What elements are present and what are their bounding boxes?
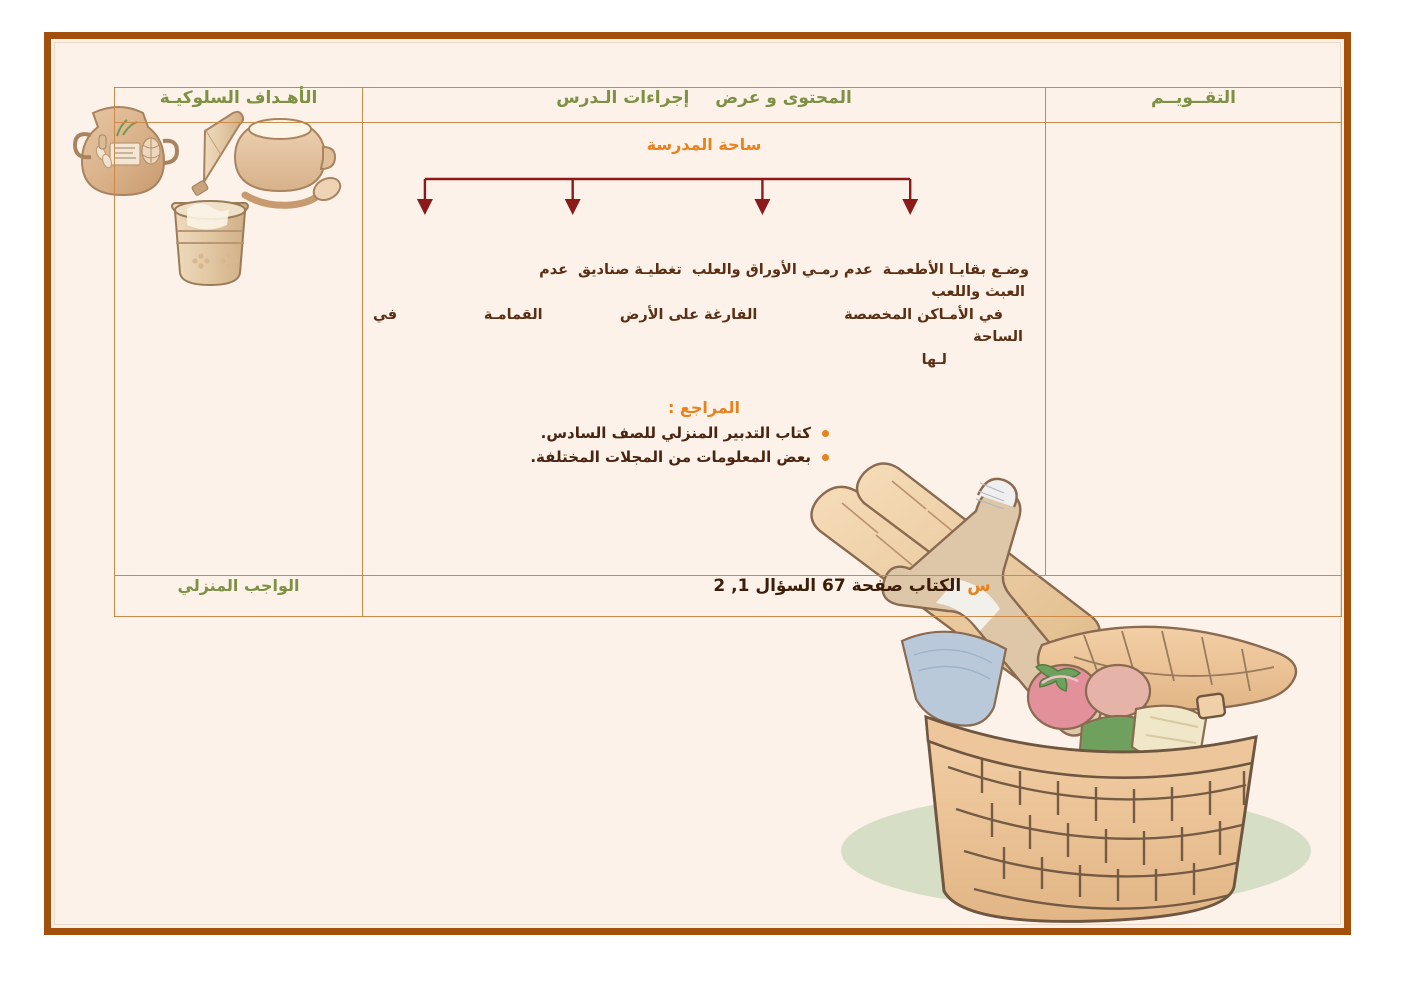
cell-objectives[interactable] <box>115 123 363 576</box>
reference-item-2: بعض المعلومات من المجلات المختلفة. <box>379 445 829 469</box>
tree-diagram: ساحة المدرسة <box>363 135 1045 275</box>
branch-seg-3b: الفارغة على الأرض <box>620 304 758 326</box>
cell-content-procedures: ساحة المدرسة <box>363 123 1046 576</box>
homework-value: الكتاب صفحة 67 السؤال 1, 2 <box>713 576 961 596</box>
branch-line-1: وضـع بقايـا الأطعمـة عدم رمـي الأوراق وا… <box>369 259 1033 281</box>
branch-seg-1c: تغطيـة صناديق <box>578 259 682 281</box>
header-content-procedures: المحتوى و عرض إجراءات الـدرس <box>363 88 1046 123</box>
tree-diagram-arrows <box>363 173 1045 221</box>
table-header-row: التقــويــم المحتوى و عرض إجراءات الـدرس… <box>115 88 1342 123</box>
references-list: كتاب التدبير المنزلي للصف السادس. بعض ال… <box>379 421 1029 469</box>
branch-seg-3a: في الأمـاكن المخصصة <box>844 304 1003 326</box>
tree-diagram-title: ساحة المدرسة <box>363 135 1045 154</box>
references-title: المراجع : <box>379 398 1029 417</box>
homework-prefix: س <box>967 576 990 596</box>
cell-evaluation[interactable] <box>1046 123 1342 576</box>
branch-line-5: لـها <box>369 349 1033 371</box>
branch-line-3: في الأمـاكن المخصصة الفارغة على الأرض ال… <box>369 304 1033 326</box>
branch-seg-1d: عدم <box>539 259 568 281</box>
lesson-plan-table: التقــويــم المحتوى و عرض إجراءات الـدرس… <box>114 87 1342 617</box>
reference-item-1: كتاب التدبير المنزلي للصف السادس. <box>379 421 829 445</box>
branch-seg-3d: في <box>373 304 397 326</box>
branch-text-block: وضـع بقايـا الأطعمـة عدم رمـي الأوراق وا… <box>369 259 1033 371</box>
table-content-row: ساحة المدرسة <box>115 123 1342 576</box>
homework-value-cell[interactable]: س الكتاب صفحة 67 السؤال 1, 2 <box>363 576 1342 617</box>
header-procedures-label: إجراءات الـدرس <box>556 88 689 108</box>
header-objectives: الأهـداف السلوكيـة <box>115 88 363 123</box>
branch-line-2: العبث واللعب <box>369 281 1033 303</box>
branch-seg-2a: العبث واللعب <box>931 281 1025 303</box>
references-block: المراجع : كتاب التدبير المنزلي للصف السا… <box>379 398 1029 469</box>
header-content-label: المحتوى و عرض <box>715 88 852 108</box>
branch-seg-1b: عدم رمـي الأوراق والعلب <box>692 259 873 281</box>
branch-line-4: الساحة <box>369 326 1033 348</box>
branch-seg-5a: لـها <box>922 349 947 371</box>
homework-row: س الكتاب صفحة 67 السؤال 1, 2 الواجب المن… <box>115 576 1342 617</box>
branch-seg-4a: الساحة <box>973 326 1023 348</box>
branch-seg-3c: القمامـة <box>484 304 543 326</box>
header-evaluation: التقــويــم <box>1046 88 1342 123</box>
branch-seg-1a: وضـع بقايـا الأطعمـة <box>883 259 1029 281</box>
page-frame: التقــويــم المحتوى و عرض إجراءات الـدرس… <box>44 32 1351 935</box>
homework-label-cell: الواجب المنزلي <box>115 576 363 617</box>
